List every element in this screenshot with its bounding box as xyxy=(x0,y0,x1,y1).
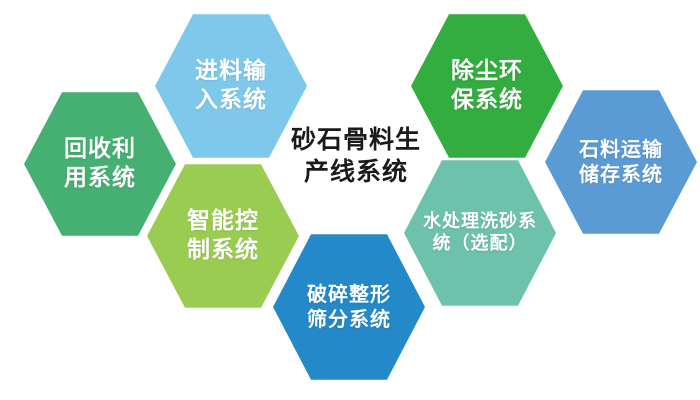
hex-label-water-treatment: 水处理洗砂系 统（选配） xyxy=(417,211,543,256)
diagram-center-title: 砂石骨料生 产线系统 xyxy=(268,124,444,188)
hex-label-feeding: 进料输 入系统 xyxy=(189,57,273,115)
hex-node-crushing[interactable]: 破碎整形 筛分系统 xyxy=(273,232,425,382)
hex-label-smart-control: 智能控 制系统 xyxy=(181,207,265,265)
hex-label-transport-storage: 石料运输 储存系统 xyxy=(573,137,669,187)
hex-node-transport-storage[interactable]: 石料运输 储存系统 xyxy=(545,88,697,236)
hex-label-crushing: 破碎整形 筛分系统 xyxy=(301,282,397,332)
hex-node-recycle[interactable]: 回收利 用系统 xyxy=(24,90,176,238)
hex-label-recycle: 回收利 用系统 xyxy=(58,135,142,193)
diagram-canvas: 回收利 用系统 进料输 入系统 智能控 制系统 破碎整形 筛分系统 除尘环 保系… xyxy=(0,0,700,400)
hex-label-dust-control: 除尘环 保系统 xyxy=(445,57,529,115)
